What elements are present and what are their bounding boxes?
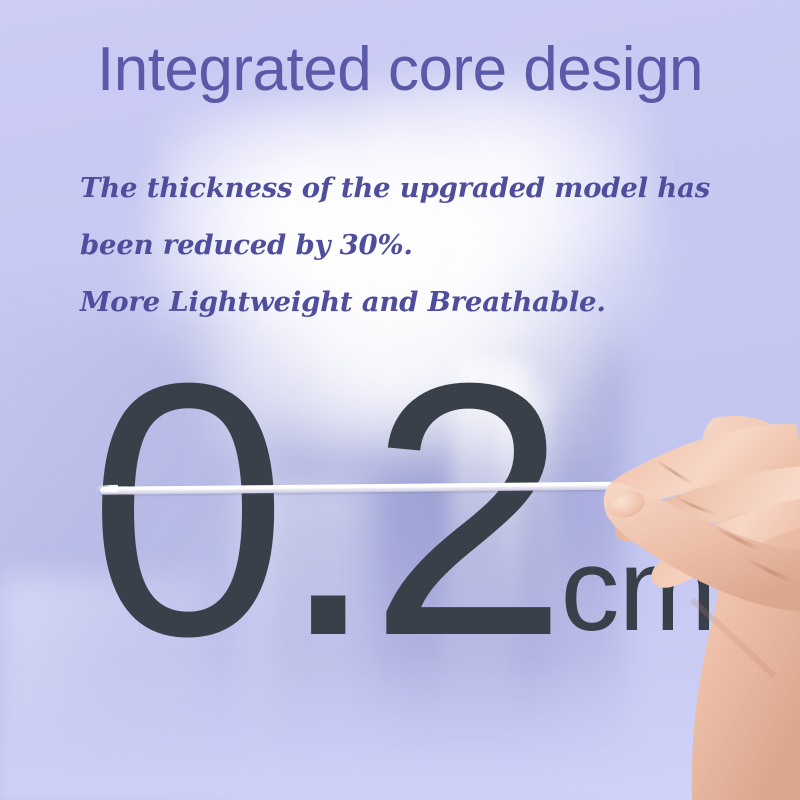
measurement-unit: cm <box>560 531 715 649</box>
measurement-readout: 0.2 cm <box>88 330 716 690</box>
subcopy-block: The thickness of the upgraded model has … <box>80 160 740 331</box>
subcopy-line-2: been reduced by 30%. <box>80 217 740 274</box>
strip-left-tip <box>96 485 118 492</box>
page-title: Integrated core design <box>0 38 800 102</box>
measurement-value: 0.2 <box>88 330 558 690</box>
subcopy-line-1: The thickness of the upgraded model has <box>80 160 740 217</box>
product-feature-poster: Integrated core design The thickness of … <box>0 0 800 800</box>
